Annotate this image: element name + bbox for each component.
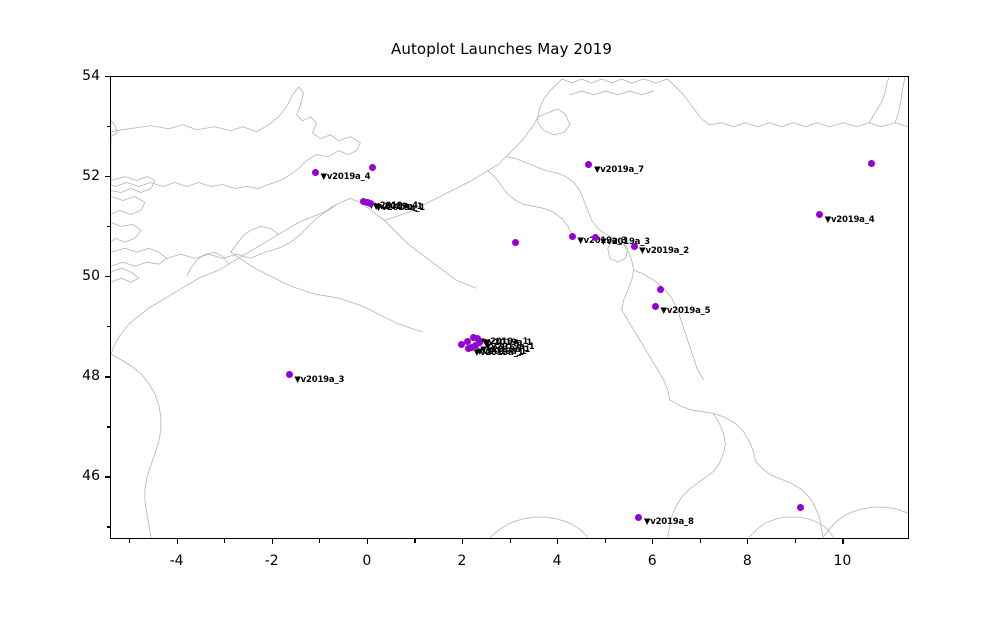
scatter-point	[657, 286, 664, 293]
scatter-point	[512, 239, 519, 246]
x-tick	[367, 539, 368, 544]
x-tick	[177, 539, 178, 544]
x-minor-tick	[414, 539, 415, 543]
scatter-plot-axes: ▼v2019a_4▼v2019a_4▼v2019a_1▼v2019a_1▼v20…	[110, 76, 909, 539]
scatter-point	[631, 243, 638, 250]
scatter-point	[367, 200, 374, 207]
scatter-point	[585, 161, 592, 168]
x-tick-label: 6	[648, 553, 657, 569]
x-tick	[842, 539, 843, 544]
scatter-point	[286, 371, 293, 378]
x-minor-tick	[129, 539, 130, 543]
scatter-point	[465, 345, 472, 352]
scatter-point	[592, 234, 599, 241]
y-tick-label: 50	[62, 268, 100, 284]
scatter-point	[797, 504, 804, 511]
y-tick	[105, 76, 110, 77]
y-tick	[105, 176, 110, 177]
y-tick-label: 48	[62, 368, 100, 384]
x-tick-label: 8	[743, 553, 752, 569]
scatter-point-label: ▼v2019a_4	[825, 215, 875, 225]
x-tick-label: 0	[362, 553, 371, 569]
x-tick-label: -4	[170, 553, 184, 569]
x-tick-label: 10	[833, 553, 851, 569]
y-tick-label: 52	[62, 168, 100, 184]
figure-canvas: Autoplot Launches May 2019	[0, 0, 1003, 633]
x-tick-label: -2	[265, 553, 279, 569]
scatter-point	[652, 303, 659, 310]
page-title: Autoplot Launches May 2019	[0, 40, 1003, 58]
x-minor-tick	[795, 539, 796, 543]
x-tick-label: 4	[553, 553, 562, 569]
x-tick	[272, 539, 273, 544]
scatter-point-label: ▼v2019a_7	[594, 165, 644, 175]
x-minor-tick	[605, 539, 606, 543]
x-tick	[557, 539, 558, 544]
x-minor-tick	[700, 539, 701, 543]
scatter-point	[569, 233, 576, 240]
scatter-point-label: ▼v2019a_3	[294, 375, 344, 385]
scatter-point-label: ▼v2019a_1	[474, 348, 524, 358]
x-minor-tick	[510, 539, 511, 543]
y-minor-tick	[107, 526, 111, 527]
scatter-points-layer: ▼v2019a_4▼v2019a_4▼v2019a_1▼v2019a_1▼v20…	[111, 77, 908, 538]
x-tick	[462, 539, 463, 544]
scatter-point-label: ▼v2019a_4	[321, 172, 371, 182]
scatter-point	[816, 211, 823, 218]
x-tick	[747, 539, 748, 544]
x-tick-label: 2	[457, 553, 466, 569]
y-tick-label: 54	[62, 68, 100, 84]
scatter-point-label: ▼v2019a_1	[375, 203, 425, 213]
y-tick	[105, 476, 110, 477]
y-minor-tick	[107, 426, 111, 427]
y-minor-tick	[107, 226, 111, 227]
scatter-point-label: ▼v2019a_5	[661, 306, 711, 316]
scatter-point	[868, 160, 875, 167]
y-minor-tick	[107, 126, 111, 127]
y-minor-tick	[107, 326, 111, 327]
scatter-point	[312, 169, 319, 176]
scatter-point-label: ▼v2019a_2	[639, 246, 689, 256]
x-minor-tick	[319, 539, 320, 543]
x-tick	[652, 539, 653, 544]
scatter-point	[635, 514, 642, 521]
scatter-point	[369, 164, 376, 171]
y-tick-label: 46	[62, 468, 100, 484]
scatter-point-label: ▼v2019a_8	[644, 517, 694, 527]
x-minor-tick	[224, 539, 225, 543]
y-tick	[105, 276, 110, 277]
y-tick	[105, 376, 110, 377]
